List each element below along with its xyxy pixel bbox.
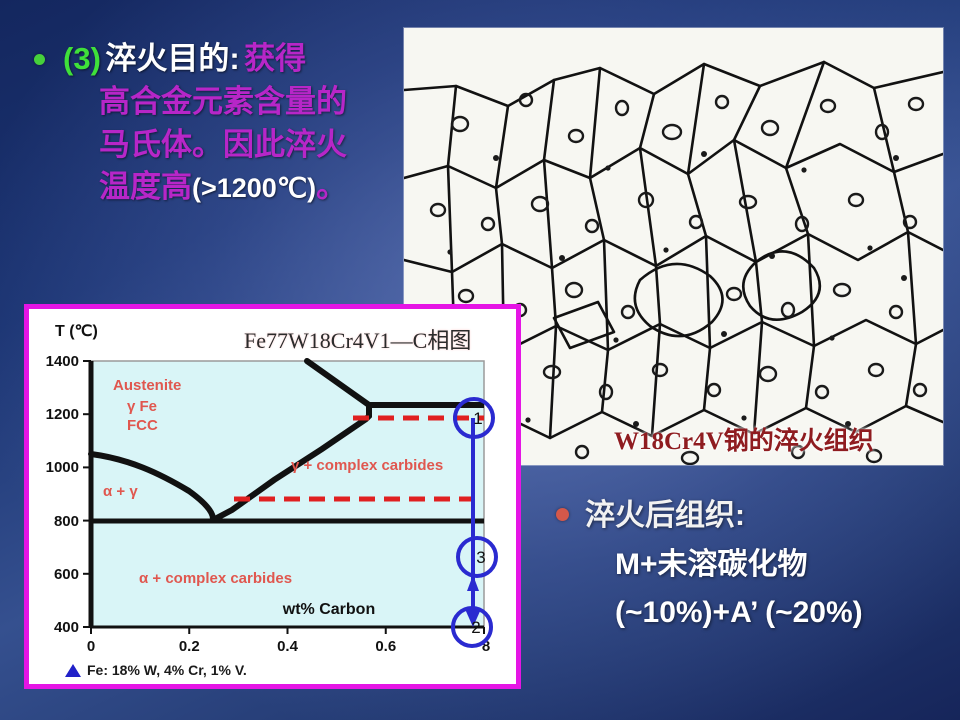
left-text-lines: (3) 淬火目的: 获得 高合金元素含量的 马氏体。因此淬火 温度高(>1200… [63, 38, 347, 209]
svg-text:400: 400 [54, 619, 79, 636]
right-text-lines: 淬火后组织: M+未溶碳化物 (~10%)+A’ (~20%) [585, 492, 863, 638]
left-line-4-purple: 温度高 [99, 169, 192, 204]
marker-label-3: 3 [476, 548, 485, 567]
right-line-3: (~10%)+A’ (~20%) [585, 589, 863, 638]
left-line-1-white: 淬火目的: [105, 41, 239, 76]
phase-diagram-y-axis-label: T (℃) [55, 321, 98, 341]
phase-diagram-plot: 1400 1200 1000 800 600 400 0 [29, 339, 516, 689]
left-line-2: 高合金元素含量的 [63, 81, 347, 124]
phase-diagram-inner: Fe77W18Cr4V1—C相图 T (℃) [29, 309, 516, 684]
svg-text:0.2: 0.2 [179, 638, 200, 655]
region-label-alpha-carbides: α + complex carbides [139, 570, 292, 587]
right-bullet-block: 淬火后组织: M+未溶碳化物 (~10%)+A’ (~20%) [556, 492, 863, 638]
svg-text:0.6: 0.6 [375, 638, 396, 655]
region-label-fcc: FCC [127, 417, 158, 434]
phase-diagram-x-axis-label: wt% Carbon [282, 601, 375, 618]
svg-text:1400: 1400 [46, 353, 79, 370]
marker-label-2: 2 [471, 618, 480, 637]
left-line-1: (3) 淬火目的: 获得 [63, 38, 347, 81]
svg-text:600: 600 [54, 566, 79, 583]
svg-text:1000: 1000 [46, 459, 79, 476]
micrograph-caption: W18Cr4V钢的淬火组织 [614, 421, 874, 457]
left-bullet-block: (3) 淬火目的: 获得 高合金元素含量的 马氏体。因此淬火 温度高(>1200… [34, 38, 347, 209]
step-number: (3) [63, 41, 101, 76]
left-line-3: 马氏体。因此淬火 [63, 124, 347, 167]
marker-label-1: 1 [473, 409, 482, 428]
svg-text:1200: 1200 [46, 406, 79, 423]
red-bullet-dot [556, 508, 569, 521]
right-line-2: M+未溶碳化物 [585, 541, 863, 590]
left-line-3-text: 马氏体。因此淬火 [99, 127, 347, 162]
phase-diagram-panel: Fe77W18Cr4V1—C相图 T (℃) [24, 304, 521, 689]
region-label-austenite: Austenite [113, 377, 181, 394]
slide-canvas: (3) 淬火目的: 获得 高合金元素含量的 马氏体。因此淬火 温度高(>1200… [0, 0, 960, 720]
composition-marker-triangle-icon [65, 664, 81, 677]
svg-text:800: 800 [54, 513, 79, 530]
left-line-1-purple: 获得 [244, 41, 306, 76]
svg-text:0: 0 [87, 638, 95, 655]
region-label-gamma-carbides: γ + complex carbides [291, 457, 443, 474]
region-label-alpha-gamma: α + γ [103, 483, 138, 500]
svg-text:0.4: 0.4 [277, 638, 299, 655]
temperature-value: (>1200℃) [192, 173, 316, 203]
phase-diagram-footnote: Fe: 18% W, 4% Cr, 1% V. [87, 662, 247, 678]
green-bullet-dot [34, 54, 45, 65]
left-line-4: 温度高(>1200℃)。 [63, 166, 347, 209]
right-line-1: 淬火后组织: [585, 492, 863, 541]
region-label-gamma-fe: γ Fe [127, 398, 157, 415]
left-line-2-text: 高合金元素含量的 [99, 84, 347, 119]
left-line-4-period: 。 [316, 169, 347, 204]
